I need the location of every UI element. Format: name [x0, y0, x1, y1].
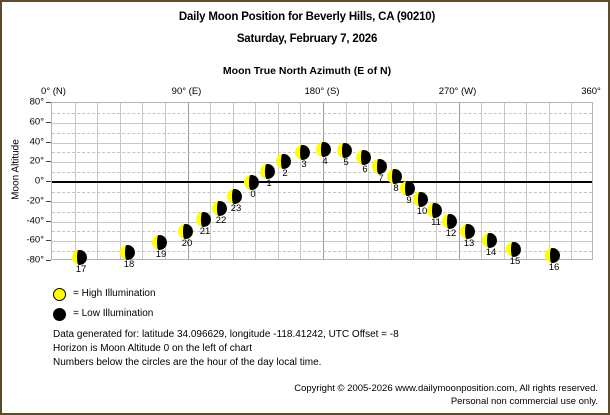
moon-hour-label: 1 — [266, 178, 271, 189]
note-line: Data generated for: latitude 34.096629, … — [53, 329, 399, 340]
moon-shadow — [80, 250, 86, 265]
moon-marker — [387, 169, 402, 184]
moon-shadow — [450, 214, 456, 229]
x-tick-label: 0° (N) — [41, 86, 66, 97]
moon-terminator — [487, 233, 490, 248]
gridline-horizontal — [52, 222, 592, 223]
y-tick-mark — [46, 240, 51, 241]
moon-terminator — [125, 245, 128, 260]
gridline-horizontal — [52, 123, 592, 124]
moon-marker — [356, 150, 371, 165]
x-tick-label: 360° — [581, 86, 601, 97]
moon-marker — [178, 224, 193, 239]
footer-line: Personal non commercial use only. — [451, 396, 598, 407]
moon-shadow — [421, 192, 427, 207]
moon-marker — [196, 212, 211, 227]
moon-marker — [212, 201, 227, 216]
moon-hour-label: 16 — [549, 262, 560, 273]
moon-shadow — [220, 201, 226, 216]
moon-marker — [316, 142, 331, 157]
moon-terminator — [342, 143, 345, 158]
moon-hour-label: 2 — [282, 168, 287, 179]
moon-terminator — [183, 224, 186, 239]
moon-hour-label: 12 — [446, 228, 457, 239]
moon-terminator — [447, 214, 450, 229]
moon-shadow — [345, 143, 351, 158]
legend-label: = Low Illumination — [73, 308, 153, 319]
moon-terminator — [377, 159, 380, 174]
y-tick-label: -20° — [4, 195, 44, 206]
moon-shadow — [160, 235, 166, 250]
moon-hour-label: 17 — [76, 264, 87, 275]
moon-terminator — [550, 248, 553, 263]
moon-shadow — [553, 248, 559, 263]
moon-marker — [244, 175, 259, 190]
moon-marker — [72, 250, 87, 265]
y-tick-label: 20° — [4, 156, 44, 167]
y-tick-label: -80° — [4, 255, 44, 266]
y-tick-mark — [46, 181, 51, 182]
moon-hour-label: 9 — [406, 195, 411, 206]
gridline-horizontal — [52, 133, 592, 134]
moon-marker — [337, 143, 352, 158]
moon-hour-label: 14 — [486, 247, 497, 258]
moon-terminator — [405, 181, 408, 196]
moon-shadow — [408, 181, 414, 196]
moon-shadow — [303, 145, 309, 160]
y-tick-mark — [46, 102, 51, 103]
moon-hour-label: 3 — [301, 159, 306, 170]
legend-label: = High Illumination — [73, 288, 156, 299]
moon-shadow — [468, 224, 474, 239]
moon-marker — [260, 164, 275, 179]
x-tick-label: 180° (S) — [305, 86, 340, 97]
moon-terminator — [392, 169, 395, 184]
moon-marker — [506, 242, 521, 257]
y-tick-mark — [46, 201, 51, 202]
moon-terminator — [418, 192, 421, 207]
moon-hour-label: 10 — [417, 206, 428, 217]
moon-marker — [545, 248, 560, 263]
moon-terminator — [201, 212, 204, 227]
moon-hour-label: 21 — [200, 226, 211, 237]
x-tick-label: 270° (W) — [439, 86, 477, 97]
y-tick-label: -60° — [4, 235, 44, 246]
gridline-horizontal — [52, 202, 592, 203]
footer-line: Copyright © 2005-2026 www.dailymoonposit… — [294, 383, 598, 394]
y-tick-mark — [46, 161, 51, 162]
moon-shadow — [435, 203, 441, 218]
moon-hour-label: 22 — [216, 215, 227, 226]
moon-hour-label: 18 — [124, 259, 135, 270]
gridline-horizontal — [52, 231, 592, 232]
moon-shadow — [284, 154, 290, 169]
high-illumination-icon — [53, 288, 66, 301]
gridline-horizontal — [52, 212, 592, 213]
horizon-line — [52, 181, 592, 183]
moon-hour-label: 6 — [362, 164, 367, 175]
moon-shadow — [128, 245, 134, 260]
plot-area — [51, 102, 593, 260]
moon-terminator — [511, 242, 514, 257]
moon-shadow — [395, 169, 401, 184]
y-axis-title: Moon Altitude — [11, 110, 22, 230]
moon-terminator — [232, 189, 235, 204]
gridline-horizontal — [52, 192, 592, 193]
y-tick-mark — [46, 142, 51, 143]
moon-marker — [295, 145, 310, 160]
y-tick-mark — [46, 221, 51, 222]
moon-marker — [372, 159, 387, 174]
y-tick-mark — [46, 260, 51, 261]
moon-marker — [413, 192, 428, 207]
moon-terminator — [300, 145, 303, 160]
moon-marker — [427, 203, 442, 218]
moon-terminator — [321, 142, 324, 157]
moon-shadow — [514, 242, 520, 257]
moon-hour-label: 7 — [378, 173, 383, 184]
moon-marker — [227, 189, 242, 204]
y-tick-mark — [46, 122, 51, 123]
moon-marker — [276, 154, 291, 169]
x-axis-title: Moon True North Azimuth (E of N) — [2, 65, 610, 77]
moon-hour-label: 11 — [431, 217, 441, 228]
note-line: Horizon is Moon Altitude 0 on the left o… — [53, 343, 252, 354]
moon-shadow — [186, 224, 192, 239]
moon-hour-label: 19 — [156, 249, 167, 260]
page-title: Daily Moon Position for Beverly Hills, C… — [2, 11, 610, 23]
moon-hour-label: 4 — [322, 156, 327, 167]
moon-terminator — [77, 250, 80, 265]
gridline-horizontal — [52, 172, 592, 173]
moon-terminator — [361, 150, 364, 165]
moon-terminator — [249, 175, 252, 190]
moon-marker — [400, 181, 415, 196]
moon-terminator — [465, 224, 468, 239]
moon-marker — [120, 245, 135, 260]
moon-marker — [460, 224, 475, 239]
y-tick-label: 80° — [4, 97, 44, 108]
moon-hour-label: 23 — [231, 203, 242, 214]
y-tick-label: 0° — [4, 176, 44, 187]
x-tick-label: 90° (E) — [172, 86, 202, 97]
moon-marker — [152, 235, 167, 250]
moon-shadow — [380, 159, 386, 174]
moon-terminator — [265, 164, 268, 179]
moon-hour-label: 13 — [464, 238, 475, 249]
moon-terminator — [281, 154, 284, 169]
y-tick-label: 60° — [4, 116, 44, 127]
moon-shadow — [364, 150, 370, 165]
page-subtitle-date: Saturday, February 7, 2026 — [2, 33, 610, 45]
moon-hour-label: 5 — [343, 157, 348, 168]
note-line: Numbers below the circles are the hour o… — [53, 357, 321, 368]
gridline-horizontal — [52, 113, 592, 114]
moon-shadow — [235, 189, 241, 204]
moon-marker — [482, 233, 497, 248]
moon-terminator — [432, 203, 435, 218]
moon-shadow — [268, 164, 274, 179]
moon-terminator — [217, 201, 220, 216]
moon-hour-label: 8 — [393, 183, 398, 194]
moon-shadow — [490, 233, 496, 248]
moon-shadow — [204, 212, 210, 227]
moon-hour-label: 20 — [182, 238, 193, 249]
moon-position-chart-page: Daily Moon Position for Beverly Hills, C… — [0, 0, 610, 415]
moon-shadow — [324, 142, 330, 157]
low-illumination-icon — [53, 308, 66, 321]
moon-hour-label: 0 — [250, 189, 255, 200]
moon-hour-label: 15 — [510, 256, 521, 267]
moon-marker — [442, 214, 457, 229]
y-tick-label: 40° — [4, 136, 44, 147]
y-tick-label: -40° — [4, 215, 44, 226]
moon-shadow — [252, 175, 258, 190]
moon-terminator — [157, 235, 160, 250]
